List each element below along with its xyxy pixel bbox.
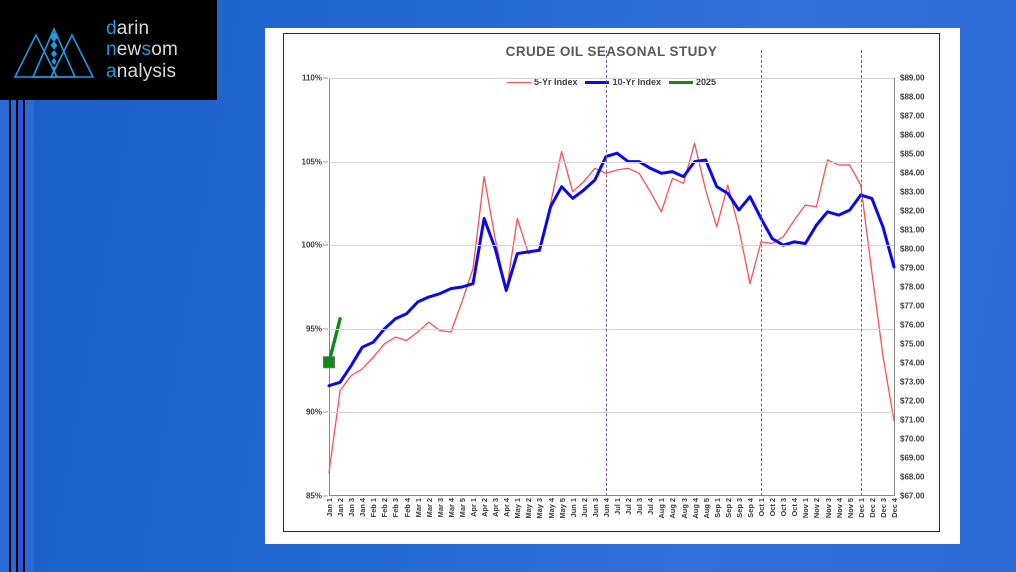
x-axis-tick-label: Sep 1	[713, 498, 722, 518]
x-axis-tick-label: Apr 2	[480, 498, 489, 517]
y-axis-right-tick-label: $87.00	[900, 112, 924, 121]
plot-area	[329, 78, 894, 496]
y-axis-left-tick-label: 100%	[302, 241, 322, 250]
annotation-vline-1	[761, 50, 762, 496]
logo-line-2-accent-2: s	[141, 39, 151, 60]
logo-wordmark: darin newsom analysis	[106, 18, 178, 82]
y-axis-left-tick-label: 105%	[302, 157, 322, 166]
x-axis-tick-label: May 2	[524, 498, 533, 519]
logo-line-1: darin	[106, 18, 178, 39]
x-axis-tick-label: Apr 3	[491, 498, 500, 517]
y-axis-left-tick-label: 95%	[306, 324, 322, 333]
y-axis-right-tick-label: $84.00	[900, 169, 924, 178]
gridline	[329, 329, 894, 330]
x-axis-tick-label: Mar 3	[436, 498, 445, 517]
y-axis-left-labels: 110%105%100%95%90%85%	[284, 78, 328, 496]
y-axis-right-tick-label: $70.00	[900, 435, 924, 444]
x-axis-tick-label: May 1	[513, 498, 522, 519]
x-axis-tick-label: Feb 4	[403, 498, 412, 517]
x-axis-tick-label: Jun 4	[602, 498, 611, 517]
x-axis-tick-label: Feb 1	[369, 498, 378, 517]
x-axis-tick-label: Nov 5	[846, 498, 855, 518]
x-axis-tick-label: Jan 4	[358, 498, 367, 517]
y-axis-left-tick	[323, 328, 328, 329]
x-axis-tick-label: Aug 2	[668, 498, 677, 519]
x-axis-tick-label: Sep 2	[724, 498, 733, 518]
x-axis-tick-label: Jan 1	[325, 498, 334, 517]
y-axis-right-tick-label: $83.00	[900, 188, 924, 197]
logo-line-1-rest: arin	[117, 18, 149, 39]
x-axis-tick-label: Aug 1	[657, 498, 666, 519]
series-line-2025	[329, 319, 340, 362]
logo-line-3-rest: nalysis	[117, 61, 176, 82]
y-axis-left-tick	[323, 245, 328, 246]
y-axis-right-tick-label: $67.00	[900, 492, 924, 501]
y-axis-left-tick	[323, 161, 328, 162]
y-axis-right-tick-label: $69.00	[900, 454, 924, 463]
series-lines	[329, 78, 894, 496]
gridline	[329, 162, 894, 163]
x-axis-tick-label: Dec 4	[890, 498, 899, 518]
gridline	[329, 245, 894, 246]
y-axis-right-tick-label: $77.00	[900, 302, 924, 311]
x-axis-tick-label: Nov 1	[801, 498, 810, 518]
x-axis-tick-label: Apr 4	[502, 498, 511, 517]
x-axis-tick-label: Jan 3	[347, 498, 356, 517]
x-axis-tick-label: Feb 3	[391, 498, 400, 517]
logo-line-2-mid: ew	[117, 39, 142, 60]
y-axis-right-labels: $89.00$88.00$87.00$86.00$85.00$84.00$83.…	[894, 78, 954, 496]
x-axis-tick-label: Mar 2	[425, 498, 434, 517]
x-axis-tick-label: Oct 1	[757, 498, 766, 516]
x-axis-tick-label: Mar 4	[447, 498, 456, 517]
y-axis-right-tick-label: $79.00	[900, 264, 924, 273]
y-axis-left-tick-label: 85%	[306, 492, 322, 501]
logo-line-2-accent: n	[106, 39, 117, 60]
y-axis-right-tick-label: $68.00	[900, 473, 924, 482]
y-axis-left-tick	[323, 496, 328, 497]
y-axis-right-tick-label: $82.00	[900, 207, 924, 216]
y-axis-right-tick-label: $73.00	[900, 378, 924, 387]
x-axis-tick-label: Jun 1	[569, 498, 578, 517]
chart-card: CRUDE OIL SEASONAL STUDY 5-Yr Index10-Yr…	[265, 28, 960, 544]
x-axis-tick-label: Feb 2	[380, 498, 389, 517]
x-axis-tick-label: Aug 4	[691, 498, 700, 519]
y-axis-left-tick-label: 110%	[302, 74, 322, 83]
x-axis-labels: Jan 1Jan 2Jan 3Jan 4Feb 1Feb 2Feb 3Feb 4…	[329, 498, 894, 534]
x-axis-tick-label: Oct 3	[779, 498, 788, 516]
y-axis-right-tick-label: $81.00	[900, 226, 924, 235]
logo-line-3-accent: a	[106, 61, 117, 82]
y-axis-right-tick-label: $75.00	[900, 340, 924, 349]
x-axis-tick-label: Sep 4	[746, 498, 755, 518]
x-axis-tick-label: Nov 3	[824, 498, 833, 518]
series-line-10-yr-index	[329, 153, 894, 385]
mountain-logo-icon	[12, 19, 96, 81]
x-axis-tick-label: Jan 2	[336, 498, 345, 517]
chart-title: CRUDE OIL SEASONAL STUDY	[284, 44, 939, 59]
logo-line-1-accent: d	[106, 18, 117, 39]
x-axis-tick-label: May 4	[547, 498, 556, 519]
x-axis-tick-label: Jul 3	[635, 498, 644, 515]
y-axis-right-line	[894, 78, 895, 496]
y-axis-right-tick-label: $76.00	[900, 321, 924, 330]
y-axis-right-tick-label: $86.00	[900, 131, 924, 140]
x-axis-tick-label: Mar 5	[458, 498, 467, 517]
x-axis-tick-label: Apr 1	[469, 498, 478, 517]
logo-line-2: newsom	[106, 39, 178, 60]
gridline	[329, 78, 894, 79]
y-axis-right-tick-label: $72.00	[900, 397, 924, 406]
x-axis-tick-label: Oct 2	[768, 498, 777, 516]
y-axis-right-tick-label: $88.00	[900, 93, 924, 102]
x-axis-tick-label: Dec 3	[879, 498, 888, 518]
y-axis-right-tick-label: $85.00	[900, 150, 924, 159]
x-axis-tick-label: May 5	[558, 498, 567, 519]
x-axis-tick-label: Aug 5	[702, 498, 711, 519]
annotation-vline-2	[861, 50, 862, 496]
y-axis-left-tick	[323, 412, 328, 413]
x-axis-tick-label: Jun 3	[591, 498, 600, 517]
x-axis-tick-label: Oct 4	[790, 498, 799, 516]
logo-line-2-rest: om	[151, 39, 178, 60]
chart-frame: CRUDE OIL SEASONAL STUDY 5-Yr Index10-Yr…	[283, 33, 940, 532]
logo-line-3: analysis	[106, 61, 178, 82]
x-axis-tick-label: Jul 4	[646, 498, 655, 515]
y-axis-right-tick-label: $71.00	[900, 416, 924, 425]
y-axis-right-tick-label: $89.00	[900, 74, 924, 83]
x-axis-tick-label: Jul 1	[613, 498, 622, 515]
y-axis-right-tick-label: $74.00	[900, 359, 924, 368]
series-marker-2025	[324, 357, 335, 368]
x-axis-tick-label: Jul 2	[624, 498, 633, 515]
x-axis-tick-label: Jun 2	[580, 498, 589, 517]
logo-block: darin newsom analysis	[0, 0, 217, 100]
y-axis-left-tick-label: 90%	[306, 408, 322, 417]
x-axis-tick-label: Nov 2	[812, 498, 821, 518]
x-axis-tick-label: Aug 3	[680, 498, 689, 519]
annotation-vline-0	[606, 50, 607, 496]
y-axis-right-tick-label: $78.00	[900, 283, 924, 292]
gridline	[329, 412, 894, 413]
x-axis-tick-label: Dec 1	[857, 498, 866, 518]
y-axis-left-tick	[323, 78, 328, 79]
x-axis-tick-label: Mar 1	[414, 498, 423, 517]
x-axis-tick-label: Dec 2	[868, 498, 877, 518]
x-axis-tick-label: May 3	[535, 498, 544, 519]
x-axis-tick-label: Nov 4	[835, 498, 844, 518]
y-axis-right-tick-label: $80.00	[900, 245, 924, 254]
x-axis-tick-label: Sep 3	[735, 498, 744, 518]
